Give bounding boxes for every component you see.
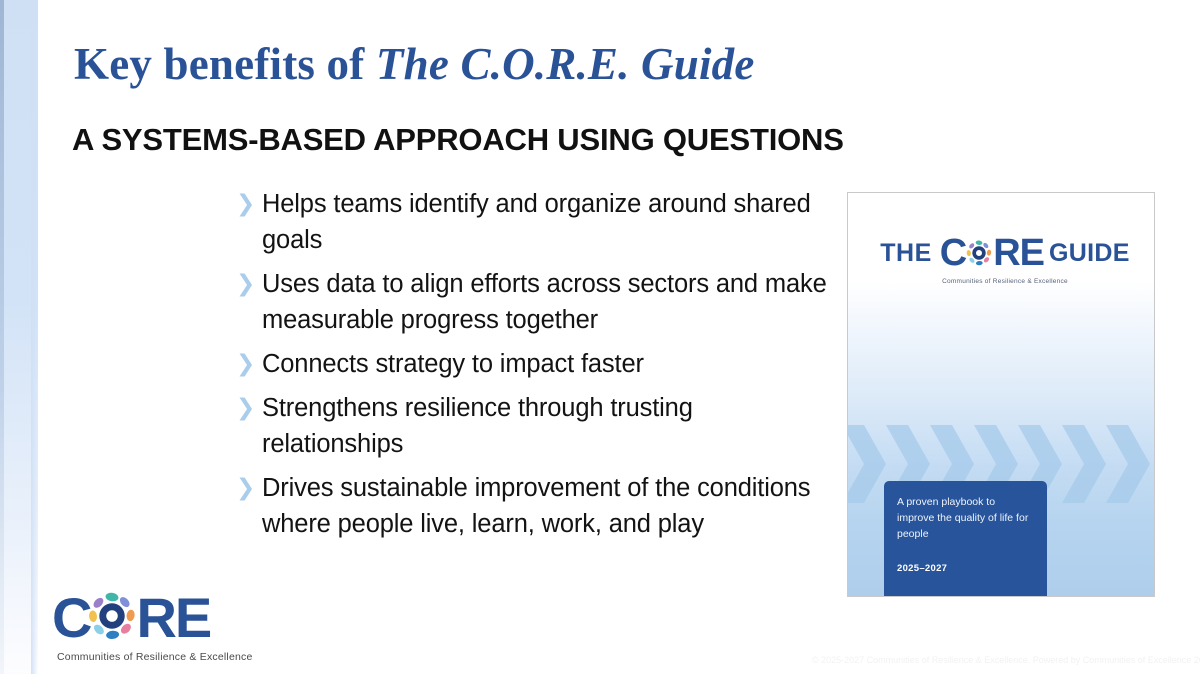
list-item-label: Connects strategy to impact faster (262, 346, 836, 382)
list-item-label: Uses data to align efforts across sector… (262, 266, 836, 338)
core-logo-letter-c: C (52, 592, 90, 644)
chevron-right-icon: ❯ (236, 346, 262, 382)
slide-footer: © 2025-2027 Communities of Resilience & … (812, 653, 1200, 667)
slide-canvas: Key benefits of The C.O.R.E. Guide A SYS… (0, 0, 1200, 674)
list-item-label: Drives sustainable improvement of the co… (262, 470, 836, 542)
core-guide-cover-image: THE C (847, 192, 1155, 597)
cover-logo-re: RE (993, 232, 1044, 275)
core-ring-icon (88, 592, 136, 640)
list-item: ❯ Strengthens resilience through trustin… (236, 390, 836, 462)
core-logo-tagline: Communities of Resilience & Excellence (57, 651, 302, 663)
list-item-label: Strengthens resilience through trusting … (262, 390, 836, 462)
page-title: Key benefits of The C.O.R.E. Guide (74, 36, 755, 92)
core-logo-letters-re: RE (136, 592, 210, 644)
cover-logo-tagline: Communities of Resilience & Excellence (879, 278, 1131, 285)
page-subtitle: A SYSTEMS-BASED APPROACH USING QUESTIONS (72, 119, 844, 161)
list-item: ❯ Drives sustainable improvement of the … (236, 470, 836, 542)
cover-logo-c: C (940, 232, 966, 275)
cover-logo-guide: GUIDE (1049, 239, 1130, 268)
core-brand-logo: C RE Communities of Resilience & Excelle… (52, 592, 302, 663)
cover-callout-box: A proven playbook to improve the quality… (884, 481, 1047, 597)
chevron-right-icon: ❯ (236, 470, 262, 506)
title-prefix: Key benefits of (74, 39, 376, 89)
list-item: ❯ Uses data to align efforts across sect… (236, 266, 836, 338)
chevron-right-icon: ❯ (236, 266, 262, 302)
list-item-label: Helps teams identify and organize around… (262, 186, 836, 258)
benefits-list: ❯ Helps teams identify and organize arou… (236, 186, 836, 550)
list-item: ❯ Helps teams identify and organize arou… (236, 186, 836, 258)
cover-logo-the: THE (880, 239, 932, 268)
chevron-right-icon: ❯ (236, 186, 262, 222)
cover-logo: THE C (879, 232, 1131, 285)
core-ring-icon (966, 240, 992, 266)
title-italic-part: The C.O.R.E. Guide (376, 39, 755, 89)
list-item: ❯ Connects strategy to impact faster (236, 346, 836, 382)
footer-copyright: © 2025-2027 Communities of Resilience & … (812, 655, 1200, 665)
cover-callout-text: A proven playbook to improve the quality… (897, 494, 1034, 542)
chevron-right-icon: ❯ (236, 390, 262, 426)
cover-callout-years: 2025–2027 (897, 563, 1034, 574)
left-gradient-strip (0, 0, 38, 674)
